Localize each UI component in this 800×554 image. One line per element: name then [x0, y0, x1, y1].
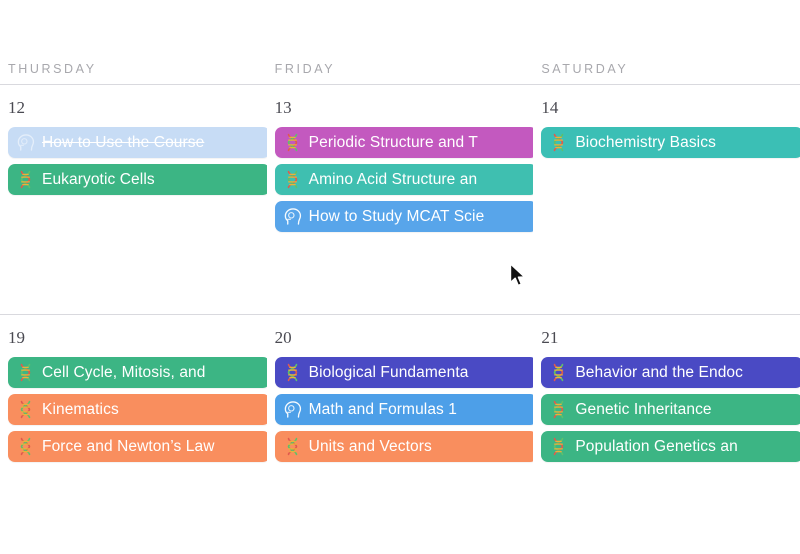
day-events-list: Periodic Structure and TAmino Acid Struc…	[275, 127, 528, 232]
calendar-event[interactable]: Population Genetics an	[541, 431, 800, 462]
calendar-event-title: Periodic Structure and T	[309, 134, 478, 152]
day-events-list: Cell Cycle, Mitosis, andKinematicsForce …	[8, 357, 261, 462]
calendar-event-title: Biochemistry Basics	[575, 134, 716, 152]
dna-icon	[15, 436, 36, 457]
day-events-list: How to Use the CourseEukaryotic Cells	[8, 127, 261, 195]
calendar-event[interactable]: Biological Fundamenta	[275, 357, 534, 388]
calendar-event-title: Genetic Inheritance	[575, 401, 711, 419]
dna-icon	[548, 436, 569, 457]
head-thought-icon	[282, 399, 303, 420]
calendar-day-cell[interactable]: 20Biological FundamentaMath and Formulas…	[267, 315, 534, 530]
calendar-event-title: How to Study MCAT Scie	[309, 208, 485, 226]
day-number[interactable]: 21	[541, 315, 794, 357]
day-events-list: Biochemistry Basics	[541, 127, 794, 158]
calendar-week-row: 12How to Use the CourseEukaryotic Cells1…	[0, 84, 800, 314]
day-number[interactable]: 12	[8, 85, 261, 127]
calendar-event[interactable]: Math and Formulas 1	[275, 394, 534, 425]
day-number[interactable]: 13	[275, 85, 528, 127]
calendar-event[interactable]: Force and Newton’s Law	[8, 431, 267, 462]
calendar-day-cell[interactable]: 13Periodic Structure and TAmino Acid Str…	[267, 85, 534, 314]
calendar-event-title: Population Genetics an	[575, 438, 737, 456]
week-grid: 19Cell Cycle, Mitosis, andKinematicsForc…	[0, 315, 800, 530]
week-grid: 12How to Use the CourseEukaryotic Cells1…	[0, 85, 800, 314]
calendar-event[interactable]: Amino Acid Structure an	[275, 164, 534, 195]
calendar-day-headers: ThursdayFridaySaturday	[0, 0, 800, 84]
dna-icon	[548, 399, 569, 420]
dna-icon	[282, 169, 303, 190]
day-events-list: Biological FundamentaMath and Formulas 1…	[275, 357, 528, 462]
calendar-event-title: Force and Newton’s Law	[42, 438, 215, 456]
calendar-event[interactable]: How to Use the Course	[8, 127, 267, 158]
calendar-event-title: Cell Cycle, Mitosis, and	[42, 364, 205, 382]
calendar-event[interactable]: Units and Vectors	[275, 431, 534, 462]
day-header-cell: Saturday	[533, 62, 800, 76]
dna-icon	[548, 362, 569, 383]
calendar-event[interactable]: Periodic Structure and T	[275, 127, 534, 158]
calendar-event[interactable]: Genetic Inheritance	[541, 394, 800, 425]
calendar-event-title: Behavior and the Endoc	[575, 364, 743, 382]
dna-icon	[282, 436, 303, 457]
calendar-event[interactable]: Eukaryotic Cells	[8, 164, 267, 195]
calendar-event[interactable]: Kinematics	[8, 394, 267, 425]
day-number[interactable]: 19	[8, 315, 261, 357]
calendar-event-title: How to Use the Course	[42, 134, 204, 152]
dna-icon	[15, 399, 36, 420]
day-events-list: Behavior and the EndocGenetic Inheritanc…	[541, 357, 794, 462]
calendar-event[interactable]: Biochemistry Basics	[541, 127, 800, 158]
day-name-label: Friday	[275, 62, 534, 76]
dna-icon	[15, 169, 36, 190]
calendar-event-title: Amino Acid Structure an	[309, 171, 478, 189]
calendar-event-title: Biological Fundamenta	[309, 364, 469, 382]
calendar-event-title: Math and Formulas 1	[309, 401, 457, 419]
head-thought-icon	[15, 132, 36, 153]
calendar-event[interactable]: Cell Cycle, Mitosis, and	[8, 357, 267, 388]
calendar-event-title: Units and Vectors	[309, 438, 432, 456]
calendar-day-cell[interactable]: 12How to Use the CourseEukaryotic Cells	[0, 85, 267, 314]
calendar-event-title: Eukaryotic Cells	[42, 171, 155, 189]
head-thought-icon	[282, 206, 303, 227]
calendar-event[interactable]: Behavior and the Endoc	[541, 357, 800, 388]
calendar-week-row: 19Cell Cycle, Mitosis, andKinematicsForc…	[0, 314, 800, 530]
calendar-day-cell[interactable]: 19Cell Cycle, Mitosis, andKinematicsForc…	[0, 315, 267, 530]
calendar-day-cell[interactable]: 14Biochemistry Basics	[533, 85, 800, 314]
day-name-label: Thursday	[8, 62, 267, 76]
day-number[interactable]: 14	[541, 85, 794, 127]
calendar-event[interactable]: How to Study MCAT Scie	[275, 201, 534, 232]
day-header-cell: Friday	[267, 62, 534, 76]
calendar-event-title: Kinematics	[42, 401, 119, 419]
dna-icon	[548, 132, 569, 153]
dna-icon	[282, 132, 303, 153]
dna-icon	[15, 362, 36, 383]
day-number[interactable]: 20	[275, 315, 528, 357]
calendar-day-cell[interactable]: 21Behavior and the EndocGenetic Inherita…	[533, 315, 800, 530]
dna-icon	[282, 362, 303, 383]
day-header-cell: Thursday	[0, 62, 267, 76]
day-name-label: Saturday	[541, 62, 800, 76]
calendar-view: ThursdayFridaySaturday 12How to Use the …	[0, 0, 800, 554]
